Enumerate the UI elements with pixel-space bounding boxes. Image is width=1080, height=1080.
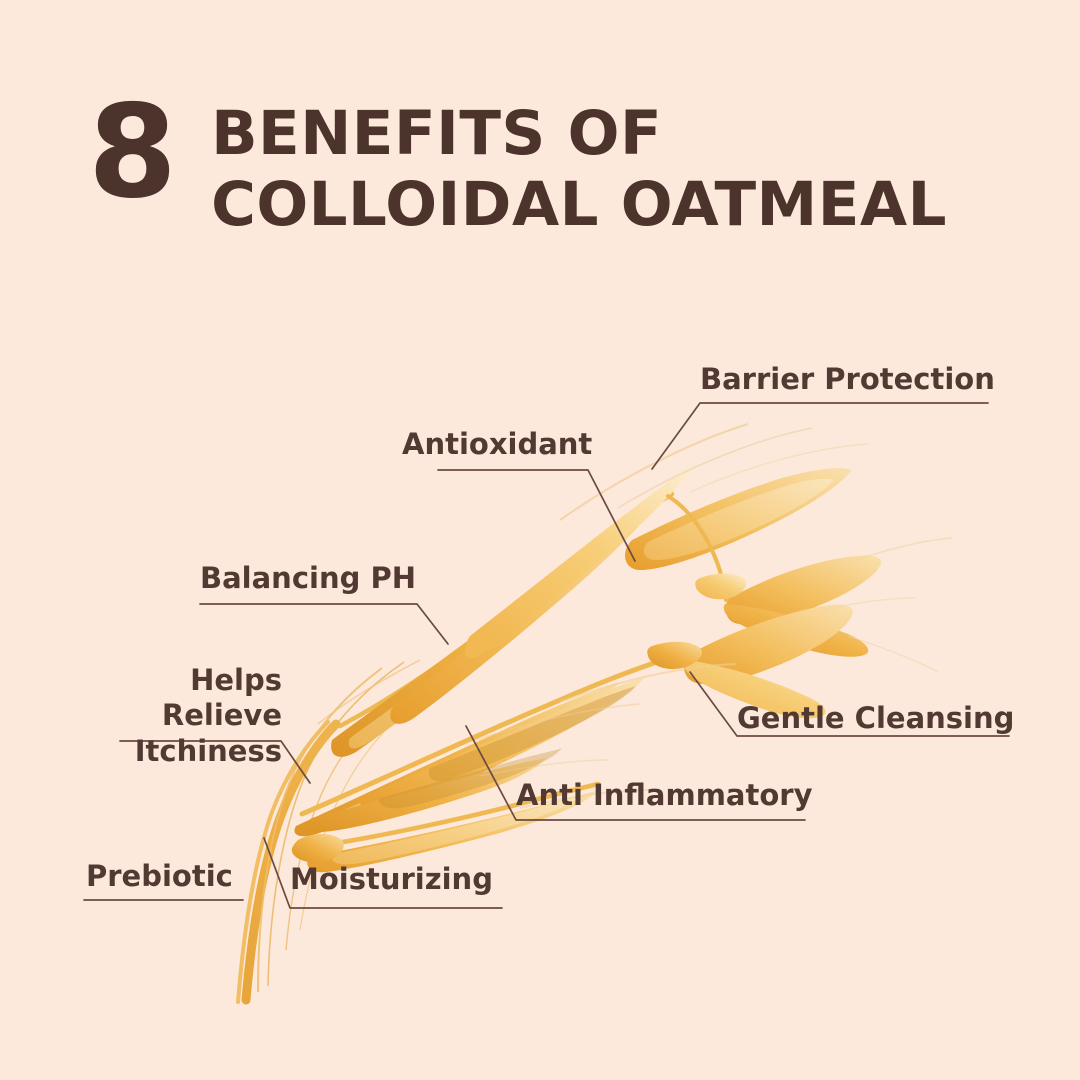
title-lines: BENEFITS OF COLLOIDAL OATMEAL [211,98,947,241]
label-helps-relieve-itchiness-line-1: Helps Relieve [60,663,282,734]
label-prebiotic: Prebiotic [86,859,233,894]
label-antioxidant: Antioxidant [402,427,592,462]
label-gentle-cleansing: Gentle Cleansing [737,701,1014,736]
infographic-poster: 8 BENEFITS OF COLLOIDAL OATMEAL Barrier … [0,0,1080,1080]
page-title: 8 BENEFITS OF COLLOIDAL OATMEAL [88,92,947,241]
label-barrier-protection: Barrier Protection [700,362,995,397]
label-moisturizing: Moisturizing [290,862,493,897]
label-balancing-ph: Balancing PH [200,561,416,596]
label-helps-relieve-itchiness-line-2: Itchiness [60,734,282,769]
label-helps-relieve-itchiness: Helps Relieve Itchiness [60,663,282,769]
benefit-count-number: 8 [88,94,175,212]
title-line-1: BENEFITS OF [211,98,947,169]
label-anti-inflammatory: Anti Inflammatory [516,778,813,813]
title-line-2: COLLOIDAL OATMEAL [211,169,947,240]
